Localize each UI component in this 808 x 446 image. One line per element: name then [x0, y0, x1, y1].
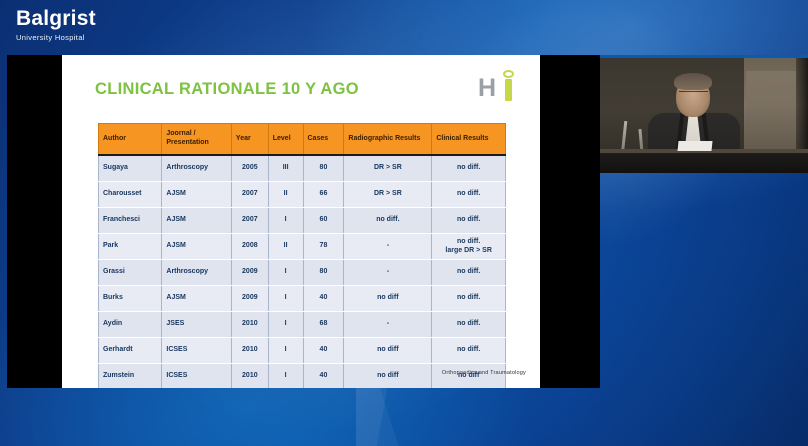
cell-cases: 60 [303, 208, 344, 234]
cell-clinical: no diff. [432, 260, 506, 286]
cell-author: Gerhardt [99, 338, 162, 364]
cell-cases: 80 [303, 155, 344, 182]
cell-author: Sugaya [99, 155, 162, 182]
speaker-hair [674, 73, 712, 90]
podium [600, 153, 808, 173]
cell-year: 2005 [231, 155, 268, 182]
speaker-glasses-icon [679, 91, 708, 97]
cell-journal: JSES [162, 312, 232, 338]
cell-radiographic: - [344, 312, 432, 338]
cell-radiographic: no diff [344, 364, 432, 389]
cell-radiographic: DR > SR [344, 155, 432, 182]
slide-title: CLINICAL RATIONALE 10 Y AGO [95, 80, 359, 99]
table-row: GerhardtICSES2010I40no diffno diff. [99, 338, 506, 364]
slide-canvas: CLINICAL RATIONALE 10 Y AGO H Author Joo… [62, 55, 540, 388]
cell-radiographic: - [344, 260, 432, 286]
cell-year: 2007 [231, 182, 268, 208]
studies-table: Author Joornal / Presentation Year Level… [98, 123, 506, 388]
cell-radiographic: no diff [344, 338, 432, 364]
table-row: FranchesciAJSM2007I60no diff.no diff. [99, 208, 506, 234]
table-header-row: Author Joornal / Presentation Year Level… [99, 124, 506, 156]
cell-cases: 66 [303, 182, 344, 208]
cell-author: Franchesci [99, 208, 162, 234]
cell-journal: AJSM [162, 208, 232, 234]
cell-year: 2007 [231, 208, 268, 234]
cell-level: II [268, 182, 303, 208]
cell-level: I [268, 364, 303, 389]
cell-clinical: no diff. [432, 338, 506, 364]
cell-cases: 40 [303, 364, 344, 389]
presentation-viewer: Balgrist University Hospital CLINICAL RA… [0, 0, 808, 446]
cell-author: Charousset [99, 182, 162, 208]
table-row: SugayaArthroscopy2005III80DR > SRno diff… [99, 155, 506, 182]
cell-clinical: no diff.large DR > SR [432, 234, 506, 260]
table-row: BurksAJSM2009I40no diffno diff. [99, 286, 506, 312]
cell-radiographic: no diff [344, 286, 432, 312]
cell-clinical: no diff. [432, 208, 506, 234]
cell-cases: 68 [303, 312, 344, 338]
podium-papers [677, 141, 712, 151]
slide-stage[interactable]: CLINICAL RATIONALE 10 Y AGO H Author Joo… [7, 55, 600, 388]
cell-journal: Arthroscopy [162, 260, 232, 286]
cell-level: I [268, 286, 303, 312]
column-header-author: Author [99, 124, 162, 156]
cell-journal: ICSES [162, 338, 232, 364]
cell-journal: AJSM [162, 182, 232, 208]
hi-logo: H [478, 67, 522, 103]
cell-level: I [268, 208, 303, 234]
cell-cases: 40 [303, 286, 344, 312]
table-row: AydinJSES2010I68-no diff. [99, 312, 506, 338]
column-header-year: Year [231, 124, 268, 156]
cell-journal: AJSM [162, 286, 232, 312]
cell-cases: 40 [303, 338, 344, 364]
cell-year: 2010 [231, 312, 268, 338]
table-row: ParkAJSM2008II78-no diff.large DR > SR [99, 234, 506, 260]
table-row: GrassiArthroscopy2009I80-no diff. [99, 260, 506, 286]
cell-cases: 80 [303, 260, 344, 286]
cell-year: 2010 [231, 338, 268, 364]
cell-year: 2009 [231, 260, 268, 286]
cell-clinical: no diff. [432, 286, 506, 312]
cell-radiographic: - [344, 234, 432, 260]
video-top-border [600, 55, 808, 58]
studies-table-wrapper: Author Joornal / Presentation Year Level… [98, 123, 506, 388]
cell-author: Burks [99, 286, 162, 312]
cell-level: II [268, 234, 303, 260]
cell-clinical: no diff. [432, 155, 506, 182]
hi-logo-letter-h: H [478, 76, 495, 101]
cell-level: I [268, 312, 303, 338]
cell-year: 2009 [231, 286, 268, 312]
column-header-cases: Cases [303, 124, 344, 156]
balgrist-logo: Balgrist University Hospital [16, 8, 96, 42]
table-row: CharoussetAJSM2007II66DR > SRno diff. [99, 182, 506, 208]
video-background-screen [746, 71, 796, 127]
cell-year: 2010 [231, 364, 268, 389]
speaker-video-feed[interactable] [600, 55, 808, 173]
cell-author: Zumstein [99, 364, 162, 389]
cell-author: Park [99, 234, 162, 260]
cell-radiographic: no diff. [344, 208, 432, 234]
cell-clinical: no diff. [432, 312, 506, 338]
cell-radiographic: DR > SR [344, 182, 432, 208]
cell-journal: ICSES [162, 364, 232, 389]
hi-logo-letter-i [505, 79, 512, 101]
studies-table-body: SugayaArthroscopy2005III80DR > SRno diff… [99, 155, 506, 388]
cell-author: Aydin [99, 312, 162, 338]
hi-logo-dot-icon [503, 70, 514, 78]
cell-cases: 78 [303, 234, 344, 260]
column-header-journal: Joornal / Presentation [162, 124, 232, 156]
cell-journal: Arthroscopy [162, 155, 232, 182]
cell-journal: AJSM [162, 234, 232, 260]
brand-subtitle: University Hospital [16, 33, 96, 42]
cell-clinical-line1: no diff. [457, 238, 480, 245]
column-header-clinical: Clinical Results [432, 124, 506, 156]
cell-level: III [268, 155, 303, 182]
brand-name: Balgrist [16, 8, 96, 30]
cell-clinical: no diff. [432, 182, 506, 208]
column-header-radiographic: Radiographic Results [344, 124, 432, 156]
cell-level: I [268, 338, 303, 364]
cell-level: I [268, 260, 303, 286]
column-header-level: Level [268, 124, 303, 156]
cell-clinical-line2: large DR > SR [436, 247, 501, 256]
cell-year: 2008 [231, 234, 268, 260]
slide-footer: Orthopaedics and Traumatology [442, 370, 526, 376]
cell-author: Grassi [99, 260, 162, 286]
